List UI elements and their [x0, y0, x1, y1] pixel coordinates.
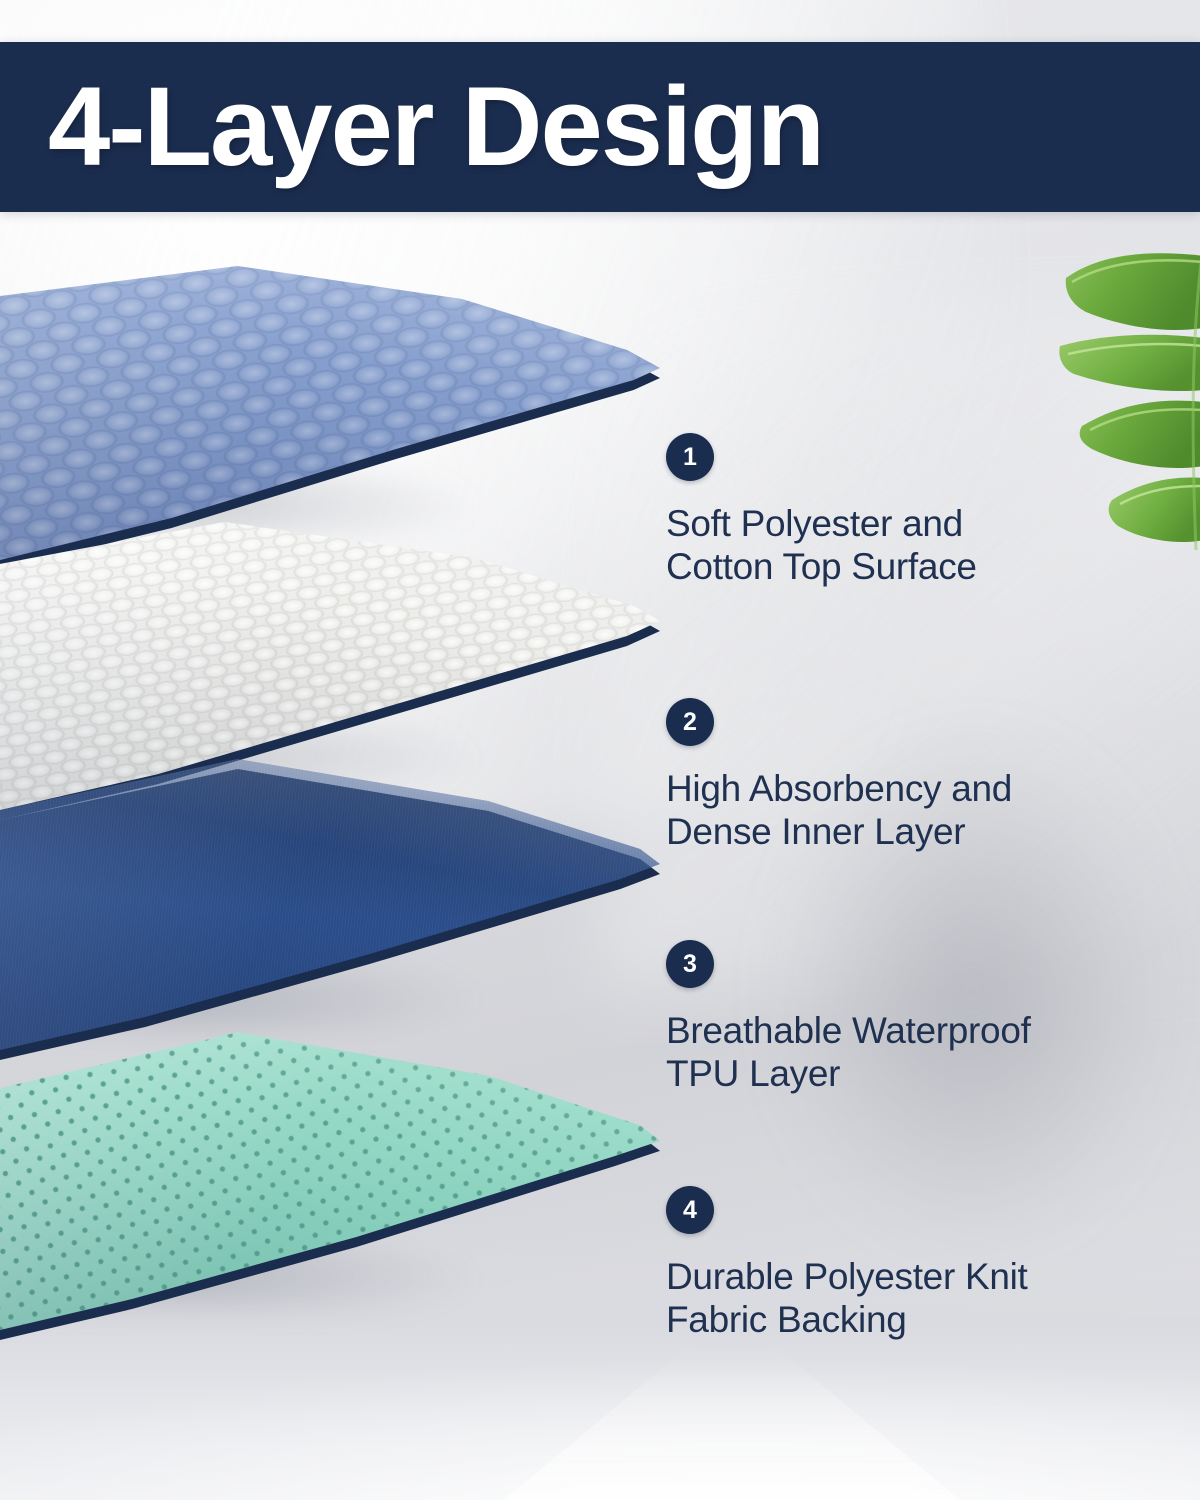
callout-4-label: Durable Polyester Knit Fabric Backing: [666, 1256, 1136, 1342]
callout-2-label: High Absorbency and Dense Inner Layer: [666, 768, 1136, 854]
callout-list: 1 Soft Polyester and Cotton Top Surface …: [0, 0, 1200, 1500]
callout-1: 1 Soft Polyester and Cotton Top Surface: [666, 433, 1136, 589]
callout-3: 3 Breathable Waterproof TPU Layer: [666, 940, 1136, 1096]
callout-4: 4 Durable Polyester Knit Fabric Backing: [666, 1186, 1136, 1342]
badge-2: 2: [666, 698, 714, 746]
callout-3-label: Breathable Waterproof TPU Layer: [666, 1010, 1136, 1096]
badge-4: 4: [666, 1186, 714, 1234]
callout-1-label: Soft Polyester and Cotton Top Surface: [666, 503, 1136, 589]
callout-2: 2 High Absorbency and Dense Inner Layer: [666, 698, 1136, 854]
badge-1: 1: [666, 433, 714, 481]
badge-3: 3: [666, 940, 714, 988]
infographic-canvas: 4-Layer Design 1 Soft Polyester and Cott…: [0, 0, 1200, 1500]
